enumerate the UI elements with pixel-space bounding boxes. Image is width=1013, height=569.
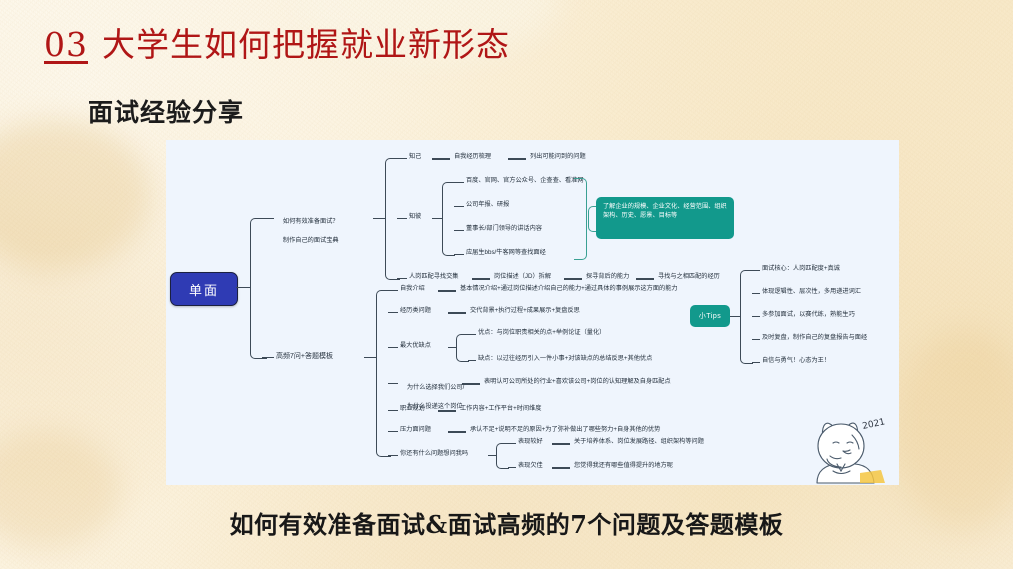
mindmap-node-zhibi-1[interactable]: 百度、官网、官方公众号、企查查、看准网 (466, 177, 584, 185)
connector-line (730, 316, 740, 317)
mindmap-node-zhiji[interactable]: 知己 (409, 153, 421, 161)
connector-line (432, 158, 450, 160)
mindmap-tip-5[interactable]: 自信与勇气！心态为王！ (762, 357, 830, 365)
connector-line (364, 357, 376, 358)
connector-line (752, 293, 760, 294)
mindmap-branch-label-faq[interactable]: 高频7问+答题模板 (276, 352, 333, 361)
mascot-dog-illustration: 2021 (797, 415, 893, 485)
mindmap-node-any-questions[interactable]: 你还有什么问题想问我吗 (400, 450, 468, 458)
mindmap-node-why-company[interactable]: 为什么选择我们公司/ 为什么投递这个岗位 (400, 374, 464, 420)
connector-bracket (442, 182, 455, 256)
connector-line (373, 218, 385, 219)
mascot-signature: 2021 (862, 417, 886, 432)
connector-line (388, 383, 398, 384)
connector-line (262, 218, 274, 219)
background-blot (0, 120, 150, 270)
mindmap-node-zhibi-3[interactable]: 董事长/部门领导的讲话内容 (466, 225, 542, 233)
mindmap-callout-company-research[interactable]: 了解企业的规模、企业文化、经营范围、组织架构、历史、愿景、目标等 (596, 197, 734, 239)
mindmap-node-strength-weakness[interactable]: 最大优缺点 (400, 342, 431, 350)
connector-line (448, 347, 456, 348)
connector-bracket (456, 334, 469, 362)
mindmap-node-self-intro[interactable]: 自我介绍 (400, 285, 425, 293)
mindmap-tip-4[interactable]: 及时复盘，制作自己的复盘报告与面经 (762, 334, 867, 342)
section-number: 03 (44, 25, 88, 64)
mindmap-canvas: 单面 如何有效准备面试？ 制作自己的面试宝典 知己 自我经历梳理 列出可能问到的… (166, 140, 899, 485)
connector-line (752, 362, 760, 363)
connector-line (552, 467, 570, 469)
node-label-line1: 为什么选择我们公司/ (407, 384, 464, 391)
section-title: 大学生如何把握就业新形态 (102, 18, 510, 66)
branch-label-line1: 如何有效准备面试？ (283, 218, 339, 225)
connector-line (397, 158, 407, 159)
mindmap-node-renggang[interactable]: 人岗匹配寻找交集 (409, 273, 459, 281)
mindmap-tip-1[interactable]: 面试核心：人岗匹配度+真诚 (762, 265, 840, 273)
connector-line (468, 360, 476, 361)
connector-line (454, 182, 464, 183)
connector-line (636, 278, 654, 280)
connector-line (454, 230, 464, 231)
mindmap-tip-2[interactable]: 体现逻辑性、层次性，多用递进词汇 (762, 288, 861, 296)
mindmap-branch-label-prepare[interactable]: 如何有效准备面试？ 制作自己的面试宝典 (276, 208, 339, 254)
connector-line (388, 431, 398, 432)
connector-line (448, 431, 466, 433)
connector-line (388, 347, 398, 348)
mindmap-node-zhibi-4[interactable]: 应届生bbs/牛客网等查找面经 (466, 249, 546, 257)
mindmap-node-career-plan-detail[interactable]: 工作内容+工作平台+时间维度 (460, 405, 541, 413)
mindmap-tip-3[interactable]: 多参加面试，以赛代练，熟能生巧 (762, 311, 855, 319)
mindmap-node-zhiji-2[interactable]: 列出可能问到的问题 (530, 153, 586, 161)
mindmap-node-zhibi[interactable]: 知彼 (409, 213, 421, 221)
mindmap-node-weakness[interactable]: 缺点：以过往经历引入一件小事+对该缺点的总结反思+其他优点 (478, 355, 652, 363)
connector-line (564, 278, 582, 280)
page-subtitle: 面试经验分享 (88, 93, 244, 129)
connector-line (448, 312, 466, 314)
connector-line (388, 312, 398, 313)
connector-line (552, 443, 570, 445)
mindmap-node-experience-detail[interactable]: 交代背景+执行过程+成果展示+复盘反思 (470, 307, 580, 315)
connector-line (488, 455, 496, 456)
connector-line (388, 455, 398, 456)
mindmap-node-career-plan[interactable]: 职业规划 (400, 405, 425, 413)
connector-bracket (250, 218, 267, 359)
mindmap-node-experience[interactable]: 经历类问题 (400, 307, 431, 315)
mindmap-node-zhiji-1[interactable]: 自我经历梳理 (454, 153, 491, 161)
connector-line (752, 270, 760, 271)
mindmap-node-perform-poor[interactable]: 表现欠佳 (518, 462, 543, 470)
mindmap-root-node[interactable]: 单面 (170, 272, 238, 306)
connector-line (752, 316, 760, 317)
connector-line (388, 410, 398, 411)
mindmap-node-stress-question[interactable]: 压力面问题 (400, 426, 431, 434)
connector-line (397, 218, 407, 219)
connector-line (468, 334, 476, 335)
mindmap-node-renggang-3[interactable]: 寻找与之相匹配的经历 (658, 273, 720, 281)
mindmap-node-perform-poor-detail[interactable]: 您觉得我还有哪些值得提升的地方呢 (574, 462, 673, 470)
connector-line (752, 339, 760, 340)
connector-line (397, 278, 407, 279)
connector-line (508, 158, 526, 160)
mindmap-node-zhibi-2[interactable]: 公司年报、研报 (466, 201, 509, 209)
slide-caption: 如何有效准备面试&面试高频的7个问题及答题模板 (0, 505, 1013, 540)
connector-line (454, 254, 464, 255)
connector-line (454, 206, 464, 207)
connector-line (388, 290, 398, 291)
connector-line (438, 410, 456, 412)
connector-line (236, 287, 250, 288)
mindmap-node-strength[interactable]: 优点：与岗位职责相关的点+举例论证（量化） (478, 329, 605, 337)
connector-line (432, 218, 442, 219)
connector-line (508, 467, 516, 468)
mindmap-node-renggang-2[interactable]: 探寻背后的能力 (586, 273, 629, 281)
connector-line (472, 278, 490, 280)
connector-line (462, 383, 480, 385)
background-blot (893, 330, 1013, 530)
mindmap-node-stress-question-detail[interactable]: 承认不足+说明不足的原因+为了弥补做出了哪些努力+自身其他的优势 (470, 426, 660, 434)
callout-bracket (574, 178, 587, 260)
mindmap-node-self-intro-detail[interactable]: 基本情况介绍+通过岗位描述介绍自己的能力+通过具体的事例展示这方面的能力 (460, 285, 678, 293)
branch-label-line2: 制作自己的面试宝典 (283, 237, 339, 244)
connector-line (262, 357, 274, 358)
mindmap-node-perform-good-detail[interactable]: 关于培养体系、岗位发展路径、组织架构等问题 (574, 438, 704, 446)
mindmap-tips-node[interactable]: 小Tips (690, 305, 730, 327)
mindmap-node-perform-good[interactable]: 表现较好 (518, 438, 543, 446)
mindmap-node-why-company-detail[interactable]: 表明认可公司所处的行业+喜欢该公司+岗位的认知理解及自身匹配点 (484, 378, 671, 386)
connector-line (438, 290, 456, 292)
mindmap-node-renggang-1[interactable]: 岗位描述（JD）拆解 (494, 273, 551, 281)
connector-line (508, 443, 516, 444)
connector-bracket (496, 443, 509, 469)
section-heading: 03 大学生如何把握就业新形态 (44, 18, 510, 66)
